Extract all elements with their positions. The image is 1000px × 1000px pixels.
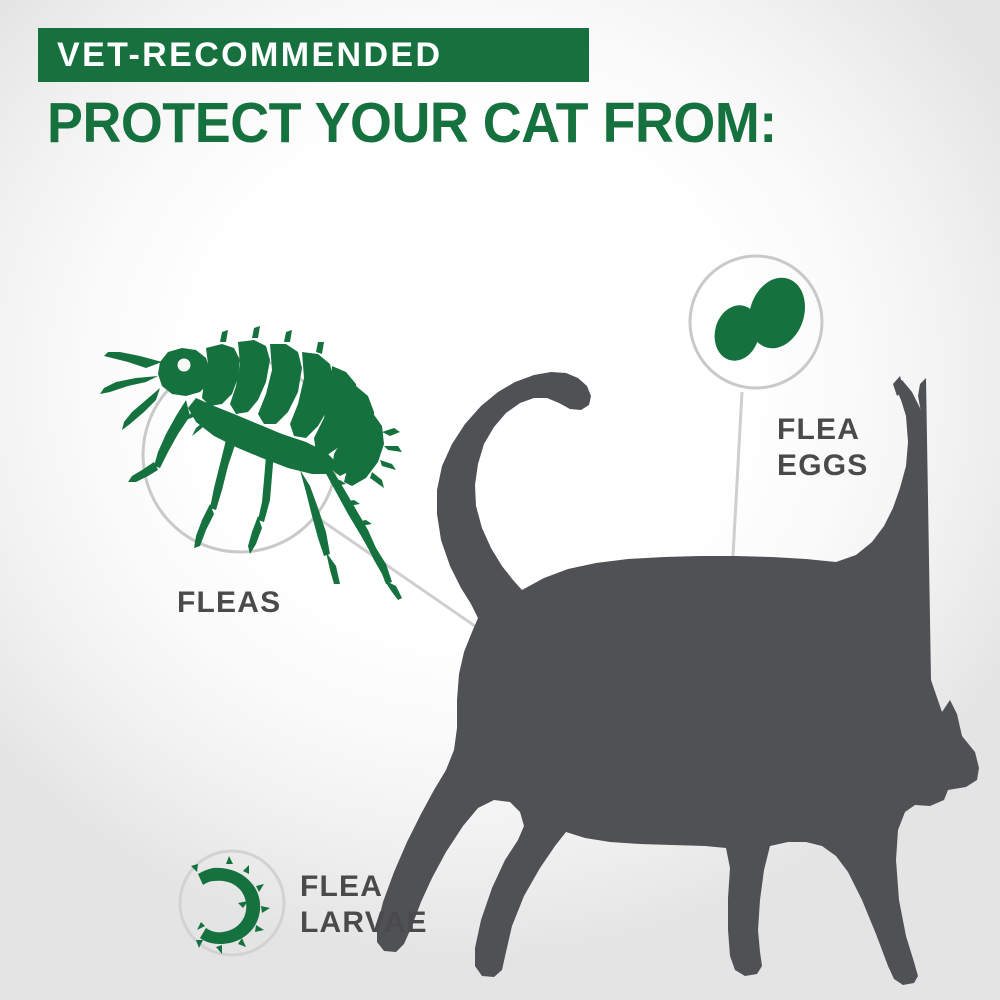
- flea-larva-icon: [191, 856, 270, 954]
- callout-flea-larvae: [180, 851, 284, 955]
- flea-icon: [100, 326, 402, 600]
- artwork-layer: [0, 0, 1000, 1000]
- callout-flea-eggs: [690, 256, 822, 388]
- flea-eggs-icon: [709, 270, 814, 365]
- label-flea-larvae: FLEA LARVAE: [300, 869, 428, 941]
- label-fleas: FLEAS: [177, 585, 281, 621]
- label-flea-eggs: FLEA EGGS: [777, 412, 869, 484]
- cat-silhouette-icon: [377, 372, 979, 985]
- callout-fleas: [100, 326, 402, 600]
- infographic-poster: VET-RECOMMENDED PROTECT YOUR CAT FROM:: [0, 0, 1000, 1000]
